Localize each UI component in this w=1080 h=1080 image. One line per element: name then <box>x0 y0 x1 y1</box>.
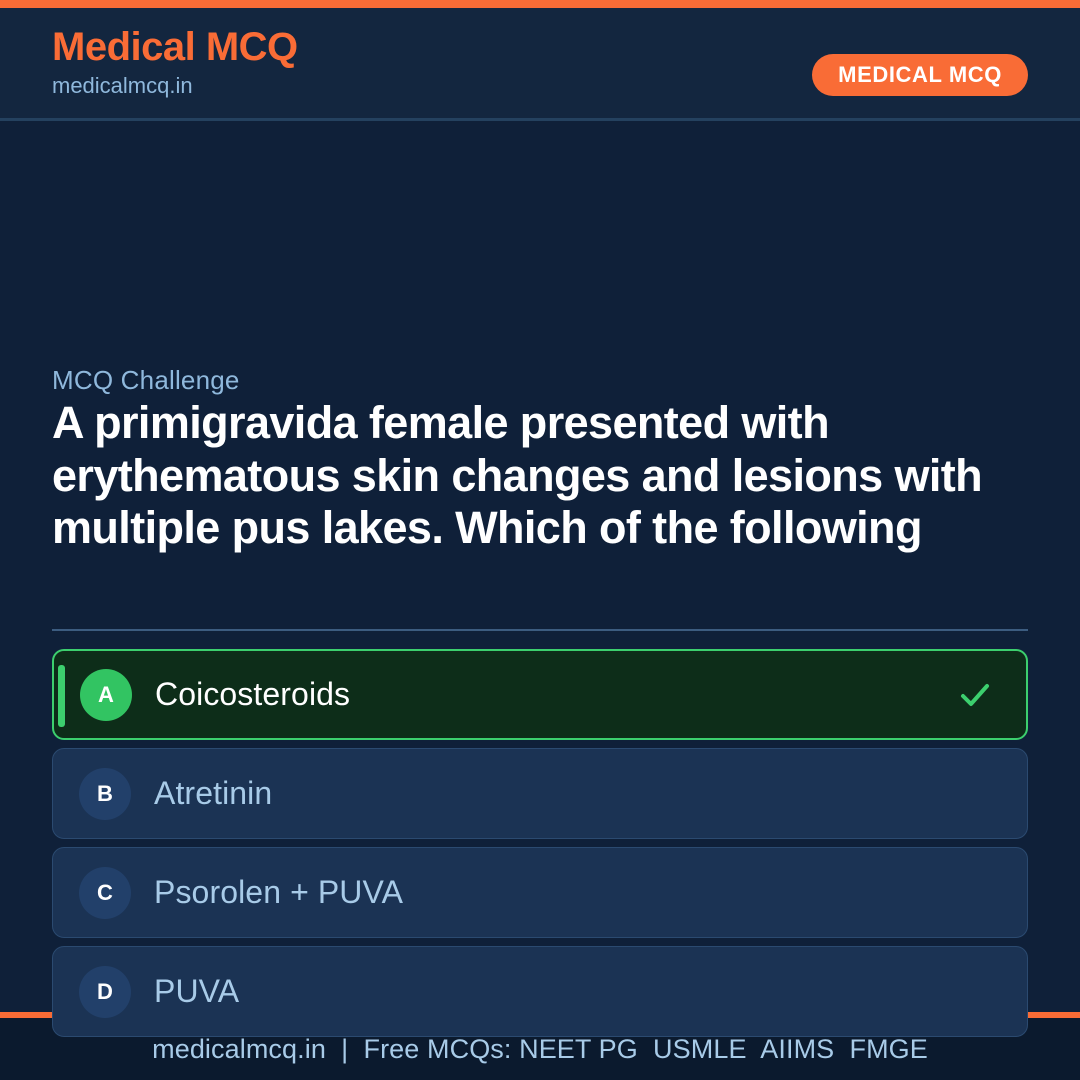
option-b[interactable]: B Atretinin <box>52 748 1028 839</box>
option-d-text: PUVA <box>154 973 239 1010</box>
option-a-letter: A <box>80 669 132 721</box>
option-c-letter: C <box>79 867 131 919</box>
brand-site-url: medicalmcq.in <box>52 71 298 101</box>
brand-title: Medical MCQ <box>52 26 298 68</box>
option-c-text: Psorolen + PUVA <box>154 874 403 911</box>
option-b-text: Atretinin <box>154 775 272 812</box>
question-text: A primigravida female presented with ery… <box>52 397 1028 555</box>
main-content: MCQ Challenge A primigravida female pres… <box>0 121 1080 1012</box>
question-divider <box>52 629 1028 631</box>
mcq-card-page: Medical MCQ medicalmcq.in MEDICAL MCQ MC… <box>0 0 1080 1080</box>
option-d-letter: D <box>79 966 131 1018</box>
option-a[interactable]: A Coicosteroids <box>52 649 1028 740</box>
brand-block: Medical MCQ medicalmcq.in <box>52 26 298 101</box>
options-list: A Coicosteroids B Atretinin C Psorolen +… <box>52 649 1028 1045</box>
top-accent-bar <box>0 0 1080 8</box>
kicker-label: MCQ Challenge <box>52 365 240 396</box>
header-badge: MEDICAL MCQ <box>812 54 1028 96</box>
option-d[interactable]: D PUVA <box>52 946 1028 1037</box>
option-c[interactable]: C Psorolen + PUVA <box>52 847 1028 938</box>
option-a-text: Coicosteroids <box>155 676 350 713</box>
header: Medical MCQ medicalmcq.in MEDICAL MCQ <box>0 8 1080 121</box>
check-icon <box>958 678 992 712</box>
option-b-letter: B <box>79 768 131 820</box>
